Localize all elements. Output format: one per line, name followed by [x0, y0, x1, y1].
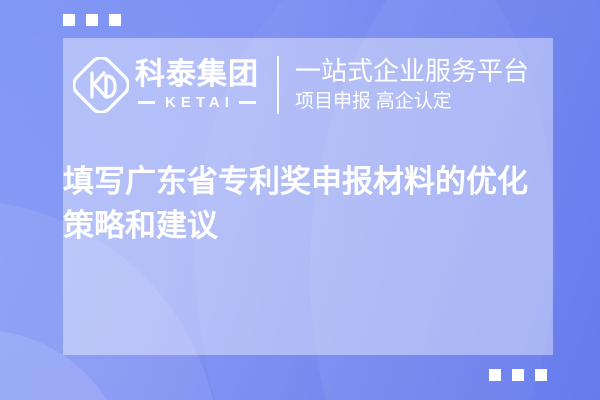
slogan-main: 一站式企业服务平台: [295, 57, 529, 87]
brand-name-en-row: KETAI: [138, 94, 256, 111]
dot-square: [86, 14, 98, 26]
slogan-block: 一站式企业服务平台 项目申报 高企认定: [295, 57, 529, 114]
brand-wordmark: 科泰集团 KETAI: [135, 59, 259, 111]
rule-right-icon: [239, 101, 256, 104]
brand-name-en: KETAI: [160, 94, 234, 111]
dot-square: [489, 369, 501, 381]
promo-banner: 科泰集团 KETAI 一站式企业服务平台 项目申报 高企认定 填写广东省专利奖申…: [0, 0, 600, 400]
decorative-dots-bottom-right: [489, 369, 547, 381]
ketai-diamond-monogram-icon: [73, 57, 129, 113]
rule-left-icon: [138, 101, 155, 104]
decorative-dots-top-left: [63, 14, 121, 26]
brand-header: 科泰集团 KETAI 一站式企业服务平台 项目申报 高企认定: [63, 46, 529, 124]
page-title: 填写广东省专利奖申报材料的优化策略和建议: [63, 160, 553, 248]
brand-divider: [277, 56, 279, 114]
dot-square: [109, 14, 121, 26]
brand-name-cn: 科泰集团: [135, 59, 259, 91]
slogan-sub: 项目申报 高企认定: [295, 91, 529, 114]
dot-square: [63, 14, 75, 26]
dot-square: [535, 369, 547, 381]
content-card: 科泰集团 KETAI 一站式企业服务平台 项目申报 高企认定 填写广东省专利奖申…: [63, 38, 553, 355]
dot-square: [512, 369, 524, 381]
